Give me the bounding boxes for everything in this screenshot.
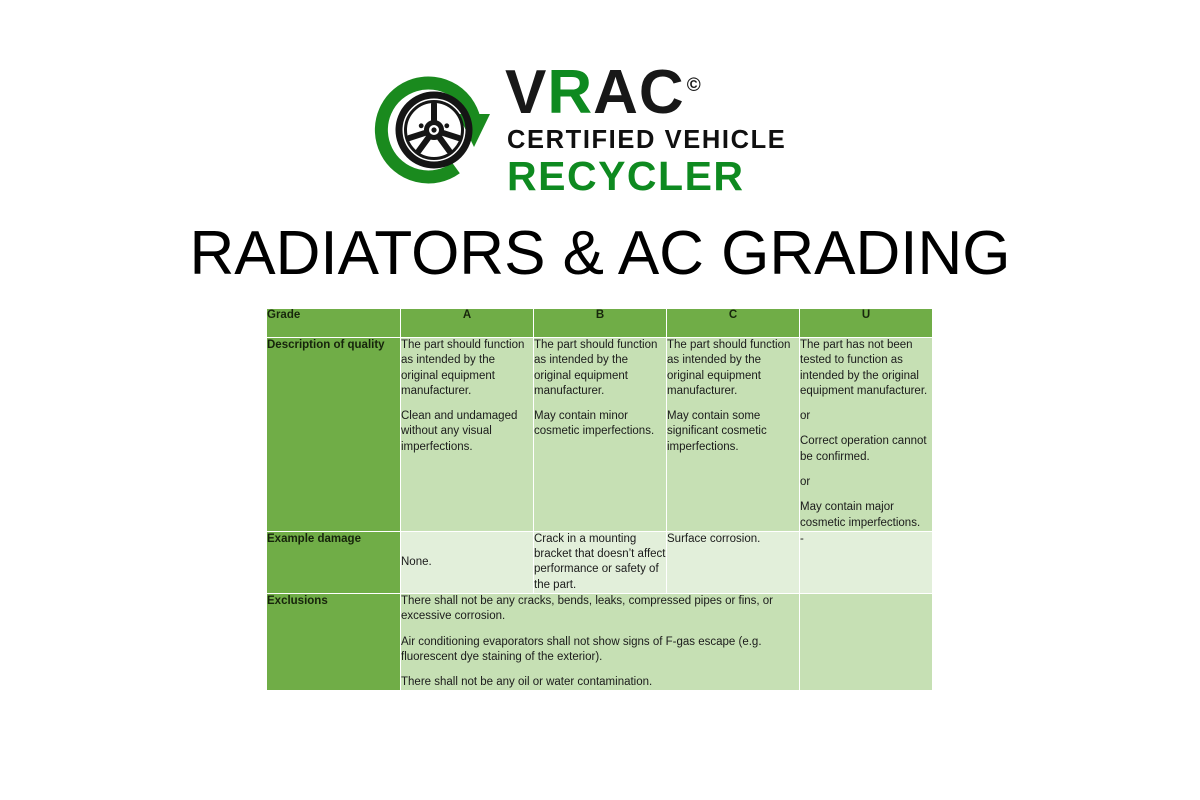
cell-example-a: None.: [401, 531, 534, 593]
logo-letter-v: V: [505, 58, 547, 127]
cell-paragraph: Correct operation cannot be confirmed.: [800, 434, 932, 465]
table-row: Example damage None. Crack in a mounting…: [267, 531, 933, 593]
cell-description-c: The part should function as intended by …: [667, 338, 800, 532]
cell-paragraph: None.: [401, 555, 533, 570]
cell-example-b: Crack in a mounting bracket that doesn’t…: [534, 531, 667, 593]
column-header-u: U: [800, 309, 933, 338]
column-header-c: C: [667, 309, 800, 338]
cell-paragraph: or: [800, 475, 932, 490]
page-title: RADIATORS & AC GRADING: [0, 220, 1200, 288]
table-row: Description of quality The part should f…: [267, 338, 933, 532]
row-label-example-damage: Example damage: [267, 531, 401, 593]
cell-paragraph: There shall not be any oil or water cont…: [401, 675, 799, 690]
cell-paragraph: The part should function as intended by …: [401, 338, 533, 399]
logo-recycler-text: RECYCLER: [507, 156, 745, 197]
column-header-b: B: [534, 309, 667, 338]
column-header-a: A: [401, 309, 534, 338]
cell-paragraph: or: [800, 409, 932, 424]
logo-brand-text: VRAC©: [505, 62, 702, 124]
cell-exclusions-text: There shall not be any cracks, bends, le…: [401, 593, 800, 690]
grading-table: Grade A B C U Description of quality The…: [266, 308, 933, 691]
cell-description-a: The part should function as intended by …: [401, 338, 534, 532]
cell-paragraph: Air conditioning evaporators shall not s…: [401, 635, 799, 666]
logo-tagline: CERTIFIED VEHICLE: [507, 128, 786, 154]
row-label-description-of-quality: Description of quality: [267, 338, 401, 532]
table-row: Exclusions There shall not be any cracks…: [267, 593, 933, 690]
cell-example-u: -: [800, 531, 933, 593]
cell-description-b: The part should function as intended by …: [534, 338, 667, 532]
cell-paragraph: May contain major cosmetic imperfections…: [800, 500, 932, 531]
cell-paragraph: The part should function as intended by …: [667, 338, 799, 399]
wheel-recycle-arrow-icon: [372, 68, 497, 193]
cell-paragraph: The part should function as intended by …: [534, 338, 666, 399]
column-header-grade: Grade: [267, 309, 401, 338]
row-label-exclusions: Exclusions: [267, 593, 401, 690]
cell-paragraph: The part has not been tested to function…: [800, 338, 932, 399]
logo-letters-ac: AC: [593, 58, 685, 127]
cell-paragraph: -: [800, 532, 932, 547]
cell-paragraph: May contain minor cosmetic imperfections…: [534, 409, 666, 440]
cell-example-c: Surface corrosion.: [667, 531, 800, 593]
table-header-row: Grade A B C U: [267, 309, 933, 338]
cell-description-u: The part has not been tested to function…: [800, 338, 933, 532]
cell-paragraph: May contain some significant cosmetic im…: [667, 409, 799, 455]
table-body: Description of quality The part should f…: [267, 338, 933, 691]
cell-paragraph: Clean and undamaged without any visual i…: [401, 409, 533, 455]
cell-exclusions-u: [800, 593, 933, 690]
vrac-logo: VRAC© CERTIFIED VEHICLE RECYCLER: [372, 58, 832, 203]
cell-paragraph: Crack in a mounting bracket that doesn’t…: [534, 532, 666, 593]
cell-paragraph: There shall not be any cracks, bends, le…: [401, 594, 799, 625]
copyright-icon: ©: [687, 75, 702, 96]
logo-letter-r: R: [547, 58, 593, 127]
cell-paragraph: Surface corrosion.: [667, 532, 799, 547]
